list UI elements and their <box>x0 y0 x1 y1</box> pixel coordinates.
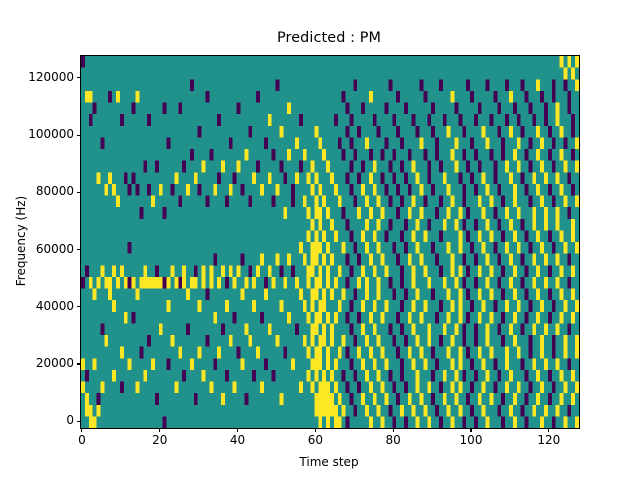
x-tick-mark <box>315 428 316 432</box>
x-tick-label: 20 <box>130 433 190 447</box>
x-tick-mark <box>159 428 160 432</box>
x-tick-mark <box>548 428 549 432</box>
heatmap-canvas <box>81 56 579 428</box>
x-tick-label: 100 <box>441 433 501 447</box>
y-tick-label: 20000 <box>0 356 74 370</box>
y-tick-label: 120000 <box>0 70 74 84</box>
y-tick-mark <box>77 421 81 422</box>
x-tick-label: 0 <box>52 433 112 447</box>
y-tick-label: 100000 <box>0 127 74 141</box>
y-tick-label: 60000 <box>0 242 74 256</box>
y-tick-mark <box>77 363 81 364</box>
y-tick-label: 0 <box>0 413 74 427</box>
x-tick-label: 40 <box>208 433 268 447</box>
y-tick-mark <box>77 77 81 78</box>
x-tick-mark <box>81 428 82 432</box>
y-tick-mark <box>77 306 81 307</box>
x-tick-label: 60 <box>285 433 345 447</box>
y-tick-mark <box>77 135 81 136</box>
x-tick-mark <box>237 428 238 432</box>
page-title: Predicted : PM <box>80 30 578 46</box>
y-tick-label: 40000 <box>0 299 74 313</box>
x-tick-label: 120 <box>519 433 579 447</box>
x-tick-label: 80 <box>363 433 423 447</box>
x-tick-mark <box>470 428 471 432</box>
y-tick-mark <box>77 192 81 193</box>
y-tick-label: 80000 <box>0 184 74 198</box>
heatmap-plot-area <box>80 55 580 429</box>
matplotlib-figure: Predicted : PM 0200004000060000800001000… <box>0 0 640 480</box>
y-tick-mark <box>77 249 81 250</box>
x-tick-mark <box>393 428 394 432</box>
x-axis-label: Time step <box>80 455 578 469</box>
y-axis-label: Frequency (Hz) <box>14 55 30 427</box>
